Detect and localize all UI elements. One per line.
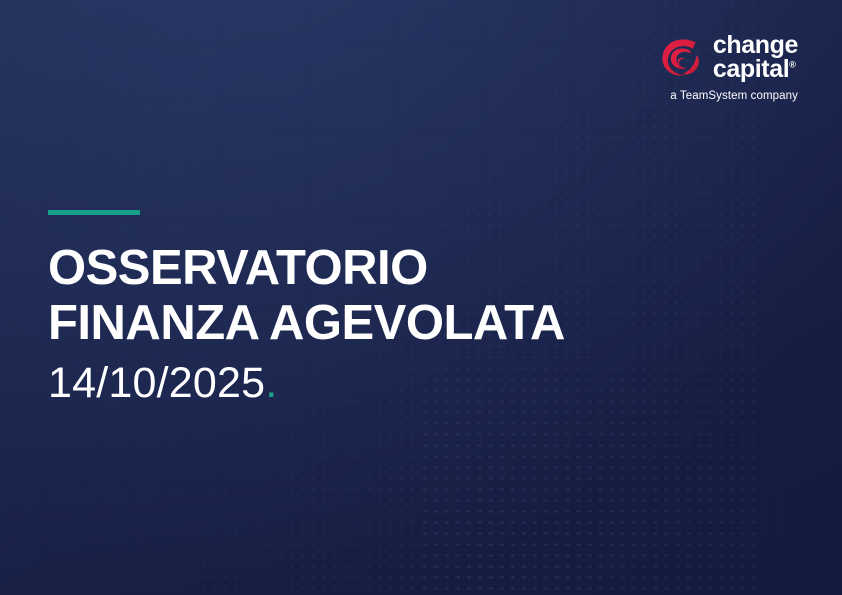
presentation-slide: change capital® a TeamSystem company OSS… — [0, 0, 842, 595]
logo-word-capital-text: capital — [713, 55, 789, 83]
logo-tagline: a TeamSystem company — [670, 90, 798, 102]
logo-wordmark: change capital® — [713, 34, 798, 81]
slide-date: 14/10/2025. — [48, 360, 708, 407]
slide-date-period: . — [265, 359, 277, 407]
brand-logo: change capital® a TeamSystem company — [656, 34, 798, 102]
slide-title-line-1: OSSERVATORIO — [48, 241, 708, 296]
title-block: OSSERVATORIO FINANZA AGEVOLATA 14/10/202… — [48, 210, 708, 407]
slide-date-text: 14/10/2025 — [48, 359, 265, 407]
swirl-logo-icon — [656, 35, 702, 81]
logo-word-capital: capital® — [713, 58, 798, 82]
logo-row: change capital® — [656, 34, 798, 81]
accent-bar — [48, 210, 140, 215]
slide-title-line-2: FINANZA AGEVOLATA — [48, 296, 708, 351]
registered-trademark-icon: ® — [789, 59, 795, 69]
